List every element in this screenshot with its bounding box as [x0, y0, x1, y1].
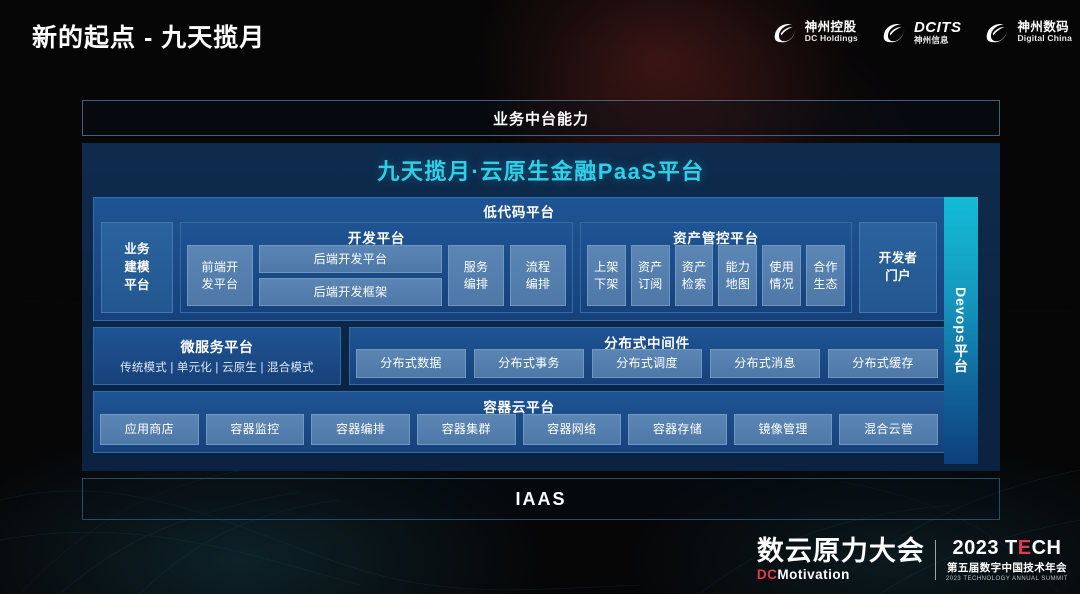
container-tile-app-store[interactable]: 应用商店	[100, 414, 199, 445]
conference-year-pre: 2023 T	[952, 537, 1017, 559]
container-tile-storage[interactable]: 容器存储	[628, 414, 727, 445]
service-orchestration-line-2: 编排	[464, 277, 489, 291]
container-tile-orchestration[interactable]: 容器编排	[311, 414, 410, 445]
middleware-tile-messaging[interactable]: 分布式消息	[710, 349, 820, 378]
business-modeling-line-3: 平台	[124, 278, 150, 293]
conference-name-en-red: DC	[757, 567, 778, 582]
container-tile-image-management[interactable]: 镜像管理	[734, 414, 833, 445]
process-orchestration-line-1: 流程	[526, 260, 551, 274]
asset-tile-line-1: 合作	[813, 260, 838, 274]
page-title: 新的起点 - 九天揽月	[32, 18, 265, 54]
back-end-dev-framework-tile[interactable]: 后端开发框架	[259, 278, 442, 306]
conference-divider	[935, 540, 936, 580]
conference-year-e: E	[1018, 537, 1032, 559]
asset-tile-line-1: 上架	[594, 260, 619, 274]
microservice-platform-title: 微服务平台	[181, 337, 254, 357]
asset-tile-line-2: 生态	[813, 277, 838, 291]
container-tile-network[interactable]: 容器网络	[523, 414, 622, 445]
developer-portal-line-2: 门户	[885, 269, 911, 284]
asset-tile-line-2: 下架	[594, 277, 619, 291]
asset-tile-line-2: 情况	[769, 277, 794, 291]
business-modeling-line-2: 建模	[124, 260, 150, 275]
asset-tile-line-2: 检索	[682, 277, 707, 291]
conference-name-cn: 数云原力大会	[757, 538, 925, 565]
logo-label-en: DC Holdings	[805, 34, 858, 43]
paas-platform-title: 九天揽月·云原生金融PaaS平台	[82, 143, 1000, 197]
middleware-row: 微服务平台 传统模式 | 单元化 | 云原生 | 混合模式 分布式中间件 分布式…	[93, 327, 945, 385]
distributed-middleware-group: 分布式中间件 分布式数据 分布式事务 分布式调度 分布式消息 分布式缓存	[349, 327, 945, 385]
asset-tile-partner-ecosystem[interactable]: 合作 生态	[806, 245, 845, 306]
conference-logo: 数云原力大会 DCMotivation 2023 TECH 第五届数字中国技术年…	[757, 538, 1068, 582]
paas-platform-body: 低代码平台 业务 建模 平台 开发平台 前端开 发平台	[93, 197, 945, 464]
top-bar-label: 业务中台能力	[493, 108, 589, 129]
container-cloud-platform-group: 容器云平台 应用商店 容器监控 容器编排 容器集群 容器网络 容器存储 镜像管理…	[93, 391, 945, 453]
asset-tile-search[interactable]: 资产 检索	[675, 245, 714, 306]
asset-tile-listing[interactable]: 上架 下架	[587, 245, 626, 306]
back-end-dev-platform-tile[interactable]: 后端开发平台	[259, 245, 442, 273]
process-orchestration-line-2: 编排	[526, 277, 551, 291]
container-tile-monitoring[interactable]: 容器监控	[206, 414, 305, 445]
logo-dcits: DCITS 神州信息	[880, 20, 962, 45]
logo-label-en: Digital China	[1017, 34, 1072, 43]
dev-platform-group: 开发平台 前端开 发平台 后端开发平台 后端开发框架 服务	[180, 222, 573, 313]
logo-dc-holdings: 神州控股 DC Holdings	[771, 20, 858, 44]
middleware-tile-scheduling[interactable]: 分布式调度	[592, 349, 702, 378]
low-code-platform-section: 低代码平台 业务 建模 平台 开发平台 前端开 发平台	[93, 197, 945, 321]
asset-tile-line-1: 能力	[726, 260, 751, 274]
middleware-tile-cache[interactable]: 分布式缓存	[828, 349, 938, 378]
business-modeling-platform-tile[interactable]: 业务 建模 平台	[101, 222, 173, 313]
low-code-platform-title: 低代码平台	[94, 198, 944, 221]
service-orchestration-tile[interactable]: 服务 编排	[448, 245, 504, 306]
middleware-tile-data[interactable]: 分布式数据	[356, 349, 466, 378]
conference-name-en-white: Motivation	[777, 567, 850, 582]
asset-tile-line-1: 使用	[769, 260, 794, 274]
asset-tile-subscription[interactable]: 资产 订阅	[631, 245, 670, 306]
slide-canvas: 新的起点 - 九天揽月 神州控股 DC Holdings DCITS 神州信息	[0, 0, 1080, 594]
conference-subtitle-cn: 第五届数字中国技术年会	[947, 560, 1067, 575]
conference-year-post: CH	[1032, 537, 1062, 559]
conference-subtitle-en: 2023 TECHNOLOGY ANNUAL SUMMIT	[946, 576, 1068, 582]
logo-digital-china: 神州数码 Digital China	[983, 20, 1072, 44]
asset-tile-line-1: 资产	[682, 260, 707, 274]
asset-tile-line-2: 订阅	[638, 277, 663, 291]
devops-platform-sidebar[interactable]: Devops平台	[944, 197, 978, 464]
microservice-platform-block[interactable]: 微服务平台 传统模式 | 单元化 | 云原生 | 混合模式	[93, 327, 341, 385]
swirl-icon	[880, 20, 908, 44]
swirl-icon	[983, 20, 1011, 44]
front-end-dev-platform-tile[interactable]: 前端开 发平台	[187, 245, 253, 306]
brand-logo-row: 神州控股 DC Holdings DCITS 神州信息 神州数码 Digital…	[771, 20, 1072, 45]
asset-management-platform-group: 资产管控平台 上架 下架 资产 订阅 资产	[580, 222, 852, 313]
conference-name-en: DCMotivation	[757, 567, 850, 582]
service-orchestration-line-1: 服务	[464, 260, 489, 274]
business-modeling-line-1: 业务	[124, 242, 150, 257]
swirl-icon	[771, 20, 799, 44]
logo-label-cn: DCITS	[914, 20, 962, 36]
asset-tile-line-2: 地图	[726, 277, 751, 291]
business-midplatform-capability-bar: 业务中台能力	[82, 100, 1000, 136]
iaas-bar: IAAS	[82, 478, 1000, 520]
asset-tile-line-1: 资产	[638, 260, 663, 274]
container-tile-hybrid-cloud[interactable]: 混合云管	[839, 414, 938, 445]
developer-portal-tile[interactable]: 开发者 门户	[859, 222, 937, 313]
asset-tile-capability-map[interactable]: 能力 地图	[718, 245, 757, 306]
container-tile-cluster[interactable]: 容器集群	[417, 414, 516, 445]
asset-tile-usage[interactable]: 使用 情况	[762, 245, 801, 306]
middleware-tile-transaction[interactable]: 分布式事务	[474, 349, 584, 378]
back-end-stack: 后端开发平台 后端开发框架	[259, 245, 442, 306]
conference-year-tech: 2023 TECH	[952, 538, 1061, 558]
developer-portal-line-1: 开发者	[879, 251, 917, 266]
front-end-line-2: 发平台	[202, 277, 239, 291]
iaas-label: IAAS	[515, 489, 566, 510]
paas-platform-panel: 九天揽月·云原生金融PaaS平台 低代码平台 业务 建模 平台 开发平台	[82, 143, 1000, 471]
microservice-platform-subtitle: 传统模式 | 单元化 | 云原生 | 混合模式	[120, 359, 314, 375]
process-orchestration-tile[interactable]: 流程 编排	[510, 245, 566, 306]
logo-label-en: 神州信息	[914, 36, 962, 45]
front-end-line-1: 前端开	[202, 260, 239, 274]
devops-platform-label: Devops平台	[951, 287, 971, 374]
